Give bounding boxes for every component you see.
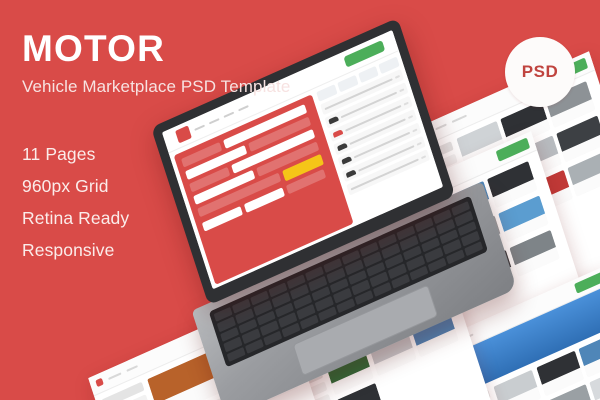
- feature-item-responsive: Responsive: [22, 242, 129, 260]
- page-title: MOTOR: [22, 30, 352, 67]
- feature-list: 11 Pages 960px Grid Retina Ready Respons…: [22, 146, 129, 274]
- feature-item-pages: 11 Pages: [22, 146, 129, 164]
- psd-badge-label: PSD: [522, 62, 558, 82]
- headline-block: MOTOR Vehicle Marketplace PSD Template: [22, 30, 352, 97]
- car-icon: [333, 129, 344, 138]
- feature-item-retina: Retina Ready: [22, 210, 129, 228]
- car-icon: [342, 156, 353, 165]
- page-subtitle: Vehicle Marketplace PSD Template: [22, 78, 352, 97]
- motor-logo-icon: [175, 126, 192, 144]
- nav-link: [194, 124, 205, 130]
- nav-link: [223, 111, 234, 117]
- car-icon: [329, 116, 340, 125]
- promo-banner: MOTOR Vehicle Marketplace PSD Template 1…: [0, 0, 600, 400]
- nav-link: [126, 365, 138, 372]
- nav-link: [108, 372, 121, 380]
- psd-badge: PSD: [505, 37, 575, 107]
- feature-item-grid: 960px Grid: [22, 178, 129, 196]
- nav-link: [208, 118, 219, 124]
- car-icon: [346, 169, 357, 178]
- car-icon: [337, 143, 348, 152]
- nav-link: [238, 105, 249, 111]
- brand-logo-icon: [96, 378, 105, 388]
